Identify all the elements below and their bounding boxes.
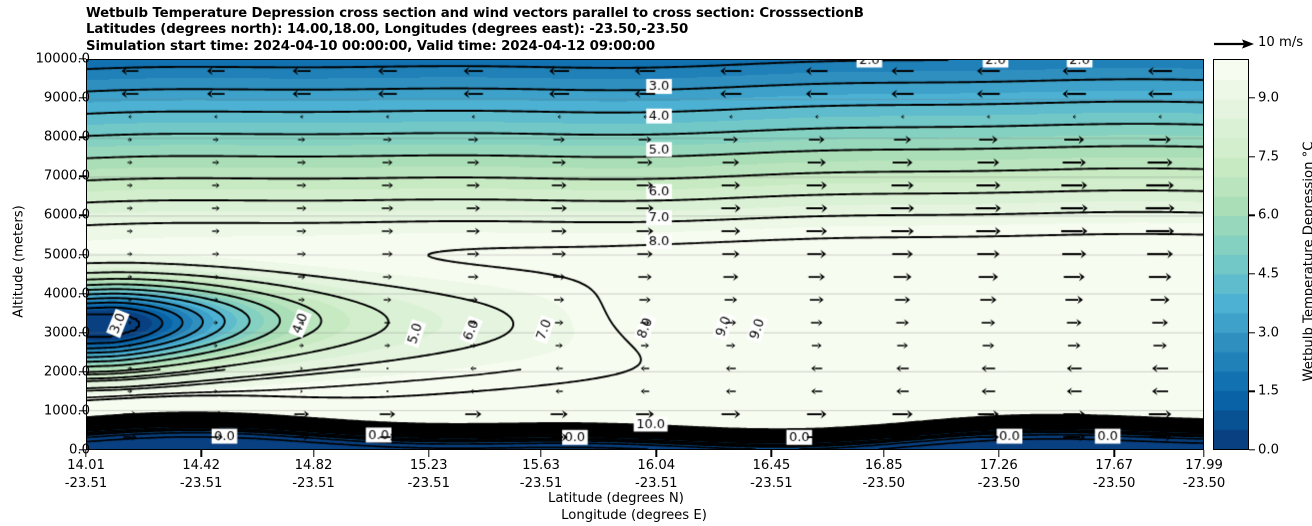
x-axis-label-latitude: Latitude (degrees N)	[386, 491, 846, 506]
x-tick-label-longitude: -23.50	[863, 476, 906, 491]
y-tick-label: 10000.0	[35, 52, 90, 67]
x-tick-mark	[883, 450, 884, 457]
x-tick-label: 16.04	[637, 458, 675, 473]
x-tick-label-longitude: -23.51	[407, 476, 450, 491]
x-tick-label-longitude: -23.51	[180, 476, 223, 491]
quiver-key-label: 10 m/s	[1258, 35, 1303, 50]
x-tick-label: 17.67	[1095, 458, 1133, 473]
chart-title-block: Wetbulb Temperature Depression cross sec…	[86, 6, 1186, 55]
x-tick-mark	[540, 450, 541, 457]
x-tick-mark	[428, 450, 429, 457]
x-tick-label-longitude: -23.51	[635, 476, 678, 491]
x-tick-label-longitude: -23.50	[1093, 476, 1136, 491]
x-tick-mark	[1203, 450, 1204, 457]
x-tick-label: 16.45	[753, 458, 791, 473]
x-tick-label: 17.99	[1185, 458, 1223, 473]
y-tick-label: 6000.0	[44, 208, 90, 223]
y-tick-label: 0.0	[69, 443, 90, 458]
x-tick-label: 14.42	[182, 458, 220, 473]
y-axis-label: Altitude (meters)	[12, 102, 27, 422]
x-tick-mark	[998, 450, 999, 457]
x-tick-label-longitude: -23.51	[292, 476, 335, 491]
quiver-key: 10 m/s	[1212, 33, 1312, 55]
colorbar-tick-label: 1.5	[1258, 384, 1279, 399]
x-tick-mark	[200, 450, 201, 457]
colorbar-tick-mark	[1249, 97, 1255, 98]
title-line-1: Wetbulb Temperature Depression cross sec…	[86, 6, 1186, 22]
colorbar	[1213, 59, 1249, 450]
colorbar-tick-mark	[1249, 215, 1255, 216]
colorbar-tick-label: 7.5	[1258, 149, 1279, 164]
colorbar-tick-label: 9.0	[1258, 91, 1279, 106]
colorbar-tick-mark	[1249, 449, 1255, 450]
y-tick-label: 4000.0	[44, 286, 90, 301]
y-tick-label: 9000.0	[44, 91, 90, 106]
x-tick-mark	[313, 450, 314, 457]
colorbar-tick-mark	[1249, 391, 1255, 392]
title-line-3: Simulation start time: 2024-04-10 00:00:…	[86, 39, 1186, 55]
colorbar-label: Wetbulb Temperature Depression °C	[1302, 97, 1312, 427]
plot-axes	[86, 59, 1204, 450]
colorbar-tick-label: 3.0	[1258, 325, 1279, 340]
colorbar-tick-mark	[1249, 273, 1255, 274]
x-tick-mark	[656, 450, 657, 457]
x-tick-label: 14.01	[67, 458, 105, 473]
colorbar-tick-label: 6.0	[1258, 208, 1279, 223]
x-tick-label-longitude: -23.51	[65, 476, 108, 491]
colorbar-tick-label: 4.5	[1258, 267, 1279, 282]
x-tick-label-longitude: -23.50	[978, 476, 1021, 491]
x-axis-label-longitude: Longitude (degrees E)	[404, 508, 864, 523]
x-tick-mark	[85, 450, 86, 457]
colorbar-tick-label: 0.0	[1258, 443, 1279, 458]
x-tick-label: 15.63	[522, 458, 560, 473]
x-tick-label-longitude: -23.51	[520, 476, 563, 491]
y-tick-label: 2000.0	[44, 364, 90, 379]
x-tick-label: 15.23	[410, 458, 448, 473]
x-tick-label-longitude: -23.51	[750, 476, 793, 491]
colorbar-tick-mark	[1249, 156, 1255, 157]
title-line-2: Latitudes (degrees north): 14.00,18.00, …	[86, 22, 1186, 38]
y-tick-label: 5000.0	[44, 247, 90, 262]
x-tick-label-longitude: -23.50	[1183, 476, 1226, 491]
colorbar-tick-mark	[1249, 332, 1255, 333]
y-tick-label: 1000.0	[44, 403, 90, 418]
x-tick-label: 16.85	[865, 458, 903, 473]
y-tick-label: 3000.0	[44, 325, 90, 340]
cross-section-plot	[87, 60, 1203, 449]
colorbar-gradient	[1214, 60, 1248, 449]
y-tick-label: 7000.0	[44, 169, 90, 184]
y-tick-label: 8000.0	[44, 130, 90, 145]
x-tick-label: 14.82	[295, 458, 333, 473]
chart-root: Wetbulb Temperature Depression cross sec…	[0, 0, 1312, 526]
x-tick-mark	[771, 450, 772, 457]
x-tick-label: 17.26	[980, 458, 1018, 473]
x-tick-mark	[1113, 450, 1114, 457]
arrow-right-icon	[1212, 35, 1256, 53]
